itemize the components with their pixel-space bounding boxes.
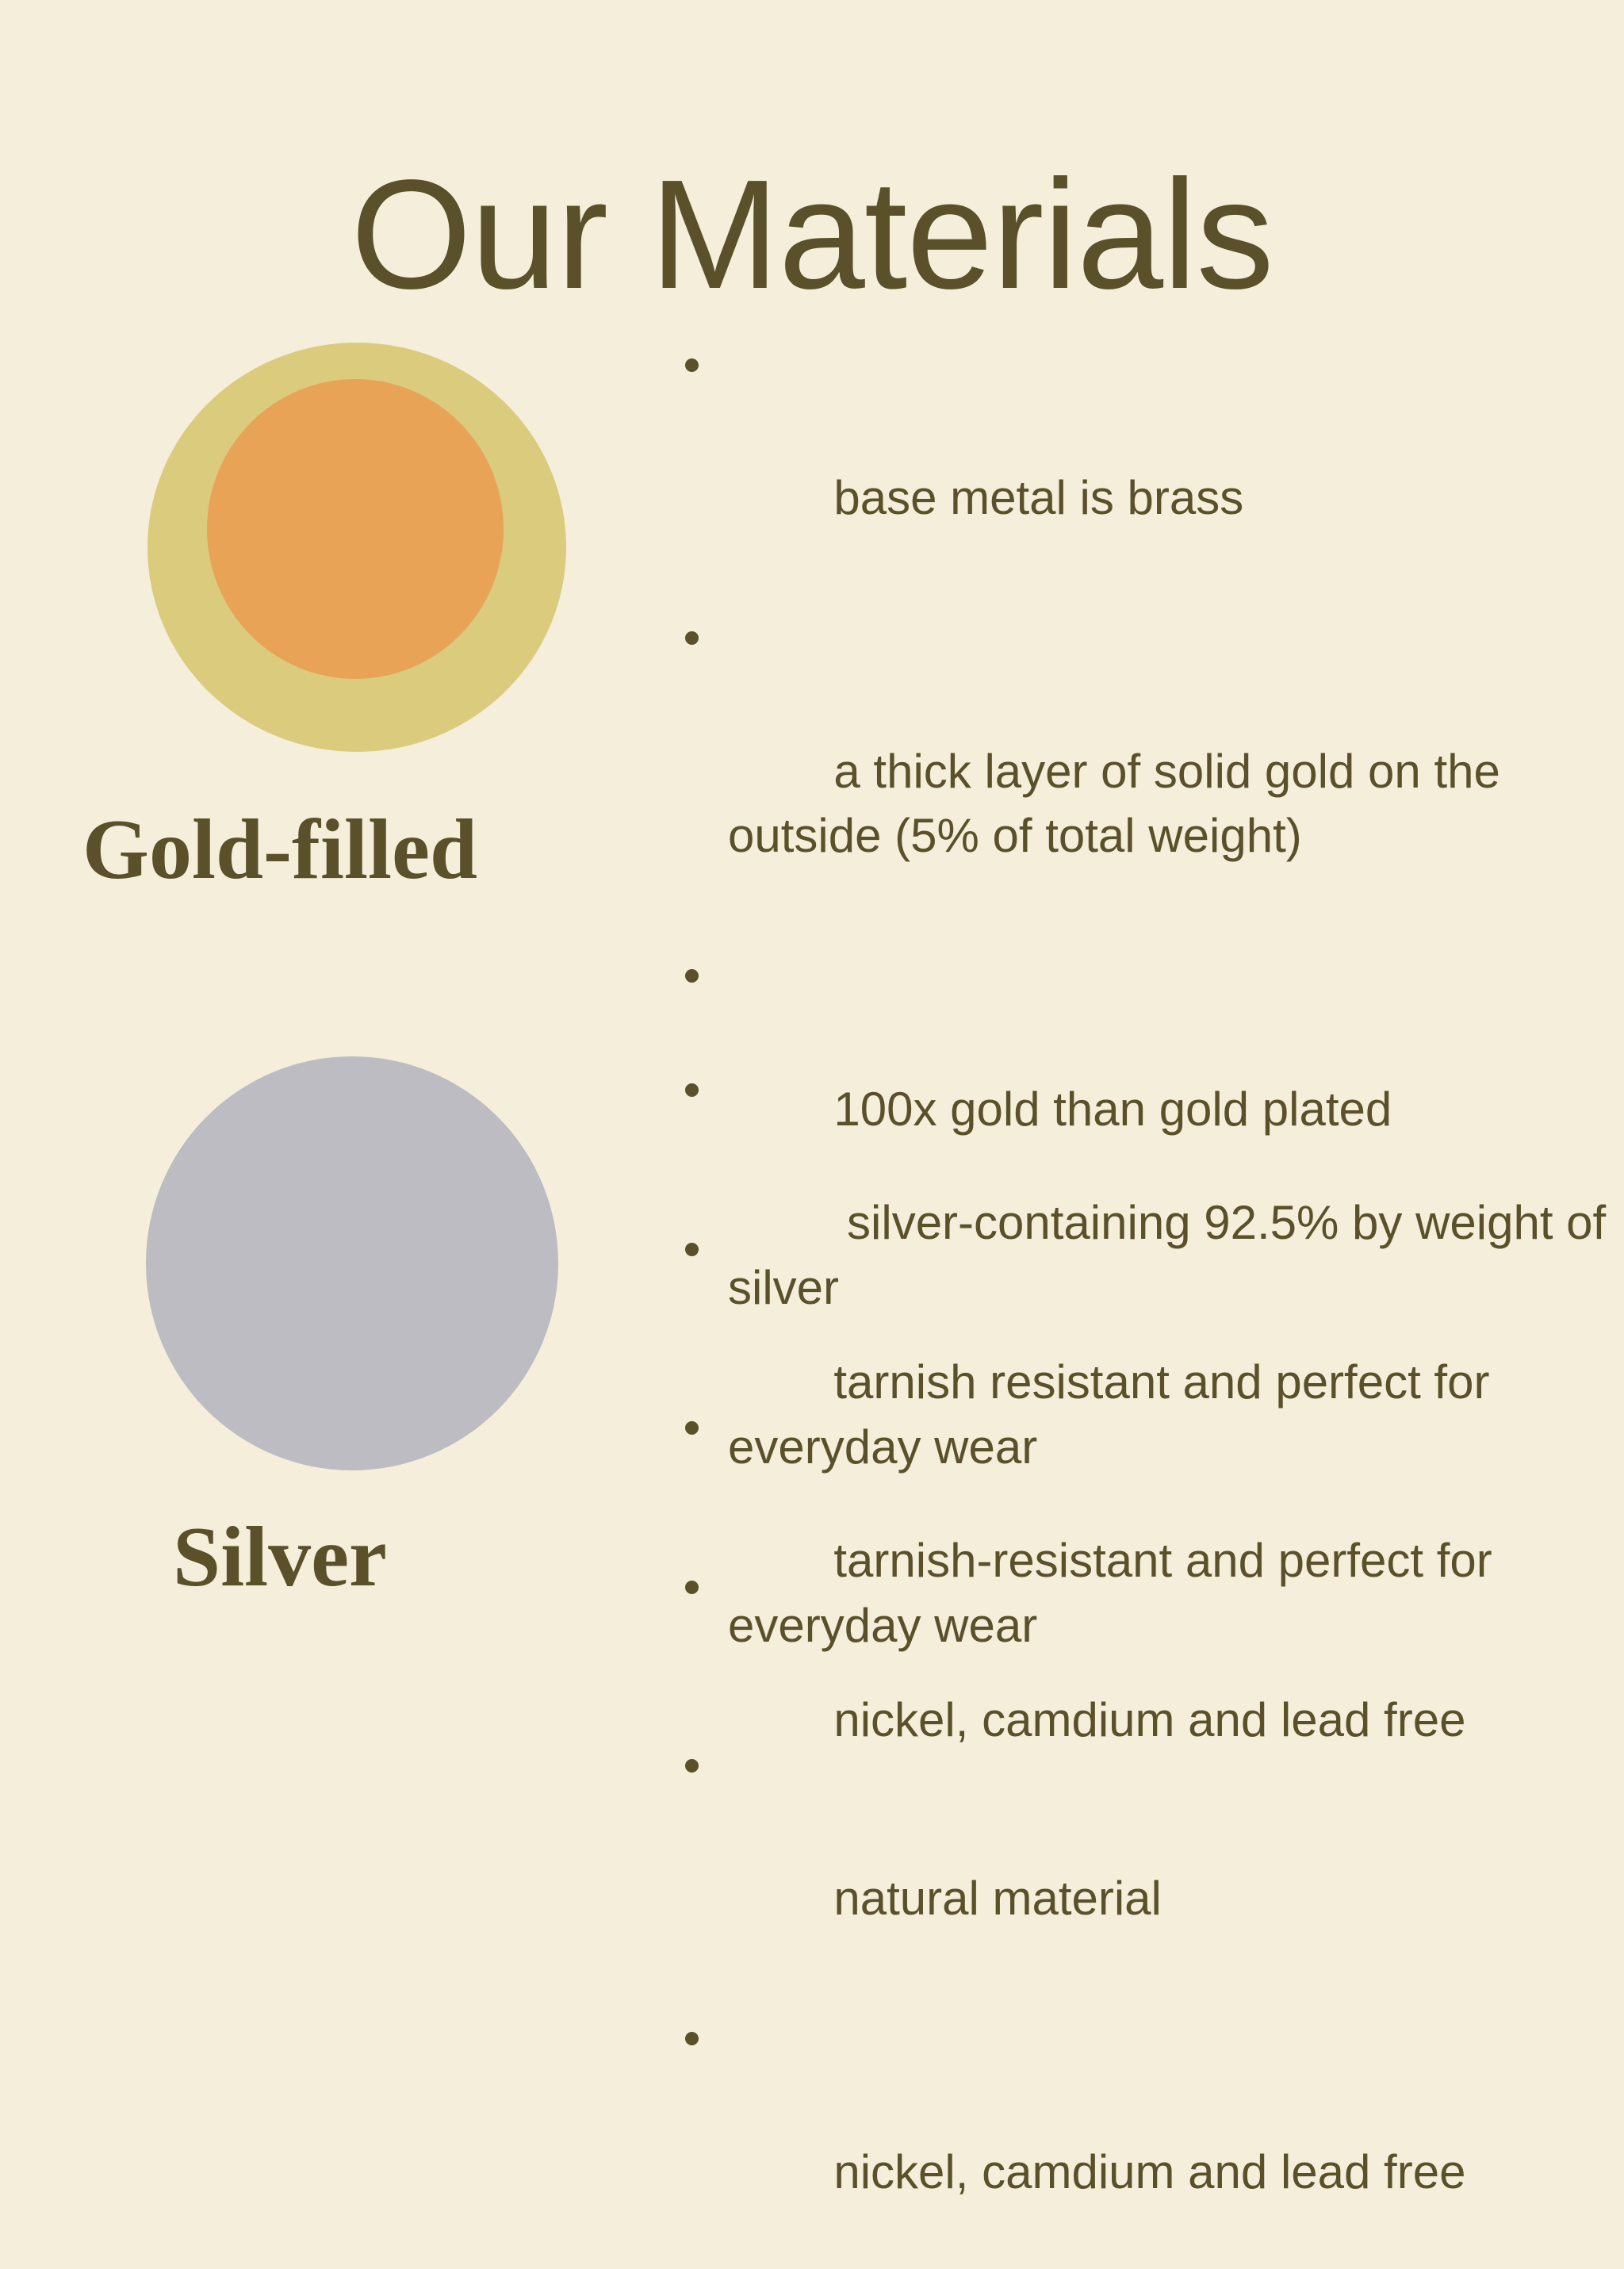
list-item: natural material xyxy=(679,1737,1614,1995)
list-item-label: silver-containing 92.5% by weight of sil… xyxy=(728,1196,1619,1314)
list-item-label: nickel, camdium and lead free xyxy=(833,2145,1465,2198)
list-item-label: natural material xyxy=(833,1872,1162,1925)
list-item: a thick layer of solid gold on the outsi… xyxy=(679,609,1607,933)
bullet-dot-icon xyxy=(685,1083,699,1097)
silver-feature-list: silver-containing 92.5% by weight of sil… xyxy=(679,1061,1614,2269)
list-item-label: tarnish-resistant and perfect for everyd… xyxy=(728,1534,1505,1652)
list-item: nickel, camdium and lead free xyxy=(679,2010,1614,2268)
list-item: tarnish-resistant and perfect for everyd… xyxy=(679,1399,1614,1723)
material-name-gold-filled: Gold-filled xyxy=(0,803,560,898)
bullet-dot-icon xyxy=(685,2032,699,2045)
page-title: Our Materials xyxy=(0,153,1624,316)
material-name-silver: Silver xyxy=(0,1511,560,1605)
silver-swatch xyxy=(146,1056,558,1470)
bullet-dot-icon xyxy=(685,631,699,645)
list-item: base metal is brass xyxy=(679,336,1607,595)
bullet-dot-icon xyxy=(685,969,699,983)
list-item-label: base metal is brass xyxy=(833,471,1243,524)
bullet-dot-icon xyxy=(685,358,699,372)
bullet-dot-icon xyxy=(685,1759,699,1773)
list-item: silver-containing 92.5% by weight of sil… xyxy=(679,1061,1614,1385)
bullet-dot-icon xyxy=(685,1421,699,1435)
materials-infographic: Our Materials base metal is brass a thic… xyxy=(0,0,1624,1624)
list-item-label: a thick layer of solid gold on the outsi… xyxy=(728,745,1514,863)
gold-filled-inner-swatch xyxy=(207,379,504,679)
